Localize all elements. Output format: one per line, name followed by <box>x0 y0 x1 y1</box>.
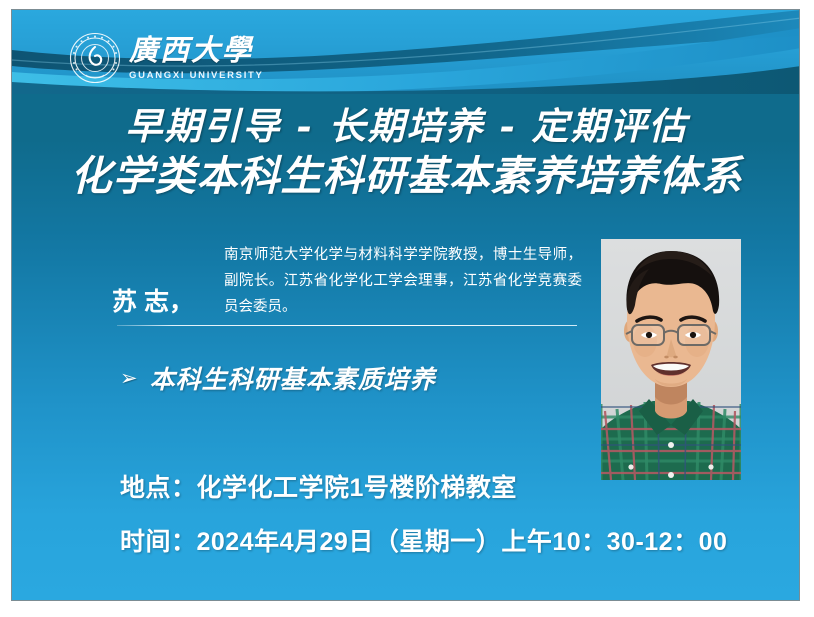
topic-bullet-item: ➢ 本科生科研基本素质培养 <box>120 360 436 396</box>
speaker-bio: 南京师范大学化学与材料科学学院教授，博士生导师，副院长。江苏省化学化工学会理事，… <box>224 242 582 320</box>
title-line-1: 早期引导 - 长期培养 - 定期评估 <box>12 102 800 150</box>
arrow-bullet-icon: ➢ <box>120 368 138 389</box>
speaker-divider <box>117 325 577 326</box>
title-line-2: 化学类本科生科研基本素养培养体系 <box>12 150 800 202</box>
logo-text-group: 廣西大學 GUANGXI UNIVERSITY <box>129 36 264 81</box>
speaker-block: 苏 志， 南京师范大学化学与材料科学学院教授，博士生导师，副院长。江苏省化学化工… <box>112 242 582 320</box>
page-title: 早期引导 - 长期培养 - 定期评估 化学类本科生科研基本素养培养体系 <box>12 94 800 202</box>
event-location: 地点：化学化工学院1号楼阶梯教室 <box>120 468 517 504</box>
lecture-poster-slide: 廣西大學 GUANGXI UNIVERSITY 早期引导 - 长期培养 - 定期… <box>11 9 800 601</box>
logo-name-cn: 廣西大學 <box>129 36 264 65</box>
event-time: 时间：2024年4月29日（星期一）上午10：30-12：00 <box>120 522 727 558</box>
university-logo: 廣西大學 GUANGXI UNIVERSITY <box>69 29 264 87</box>
topic-label: 本科生科研基本素质培养 <box>150 360 436 396</box>
logo-name-en: GUANGXI UNIVERSITY <box>129 71 264 81</box>
speaker-portrait-photo <box>601 239 741 480</box>
university-seal-icon <box>69 32 121 84</box>
slide-header-banner: 廣西大學 GUANGXI UNIVERSITY <box>12 10 800 94</box>
speaker-row: 苏 志， 南京师范大学化学与材料科学学院教授，博士生导师，副院长。江苏省化学化工… <box>112 242 582 320</box>
speaker-name: 苏 志， <box>112 289 224 321</box>
